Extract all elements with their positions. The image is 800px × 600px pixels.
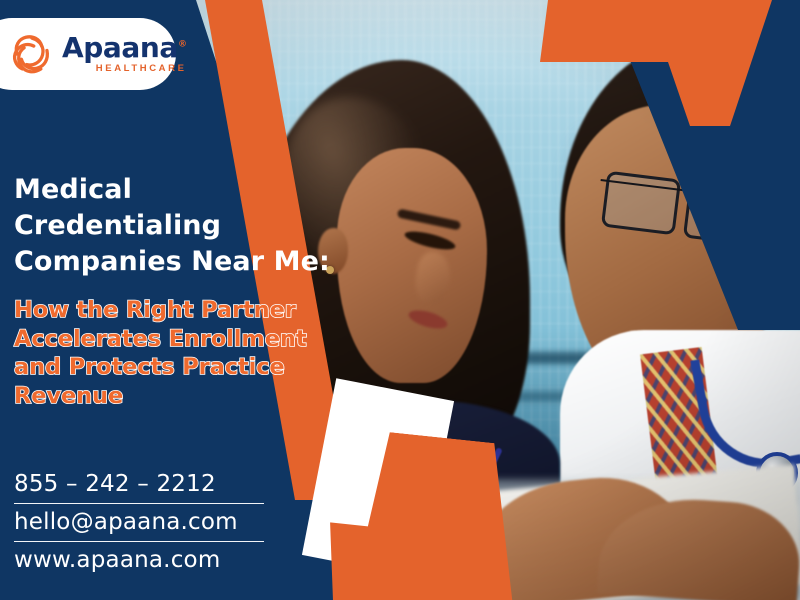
headline-line-3: Companies Near Me: [14,244,334,280]
orange-seven-wedge [540,0,800,200]
contact-phone[interactable]: 855 – 242 – 2212 [14,472,264,504]
contact-block: 855 – 242 – 2212 hello@apaana.com www.ap… [14,472,264,578]
text-content: Medical Credentialing Companies Near Me:… [0,0,340,600]
subhead-line-4: Revenue [14,382,334,411]
page-title: Medical Credentialing Companies Near Me: [14,172,334,280]
page-subtitle: How the Right Partner Accelerates Enroll… [14,296,334,410]
registered-trademark-icon: ® [178,40,187,50]
headline-line-1: Medical [14,172,334,208]
contact-website[interactable]: www.apaana.com [14,548,264,579]
contact-email[interactable]: hello@apaana.com [14,510,264,542]
subhead-line-3: and Protects Practice [14,353,334,382]
promo-banner: Apaana® HEALTHCARE Medical Credentialing… [0,0,800,600]
orange-seven-shape [540,0,800,200]
brand-logo[interactable]: Apaana® HEALTHCARE [0,18,176,90]
brand-tagline: HEALTHCARE [62,64,187,74]
interlaced-star-knot-icon [10,32,54,76]
subhead-line-2: Accelerates Enrollment [14,325,334,354]
brand-name: Apaana [62,31,178,64]
brand-wordmark: Apaana® HEALTHCARE [62,34,187,74]
headline-line-2: Credentialing [14,208,334,244]
subhead-line-1: How the Right Partner [14,296,334,325]
